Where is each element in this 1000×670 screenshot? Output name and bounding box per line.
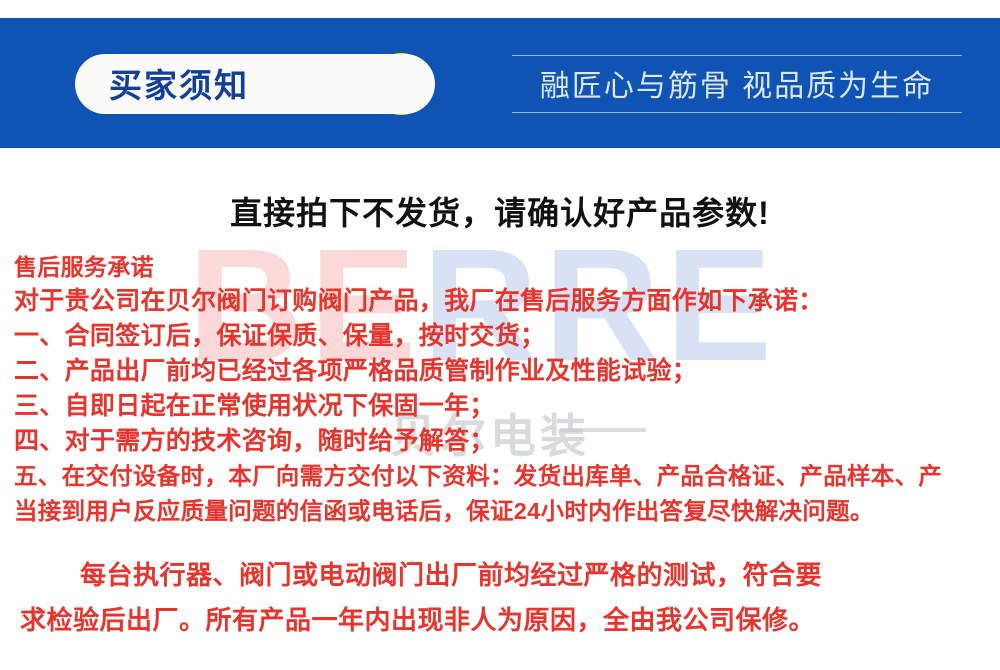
- banner-title-pill: 买家须知: [75, 54, 435, 114]
- promise-section-title: 售后服务承诺: [14, 251, 1000, 284]
- buyer-notice-page: 买家须知 融匠心与筋骨 视品质为生命 BERRE 贝尔电装 直接拍下不发货，请确…: [0, 0, 1000, 670]
- warranty-line-1: 每台执行器、阀门或电动阀门出厂前均经过严格的测试，符合要: [0, 553, 1000, 598]
- promise-item-1: 一、合同签订后，保证保质、保量，按时交货；: [14, 319, 1000, 354]
- warranty-closing-block: 每台执行器、阀门或电动阀门出厂前均经过严格的测试，符合要 求检验后出厂。所有产品…: [0, 553, 1000, 643]
- banner-slogan-text: 融匠心与筋骨 视品质为生命: [512, 61, 962, 105]
- banner-slogan-block: 融匠心与筋骨 视品质为生命: [512, 55, 962, 113]
- warranty-line-2: 求检验后出厂。所有产品一年内出现非人为原因，全由我公司保修。: [0, 598, 1000, 643]
- notice-content: 直接拍下不发货，请确认好产品参数! 售后服务承诺 对于贵公司在贝尔阀门订购阀门产…: [0, 148, 1000, 670]
- promise-item-5: 五、在交付设备时，本厂向需方交付以下资料：发货出库单、产品合格证、产品样本、产: [14, 459, 1000, 494]
- promise-item-3: 三、自即日起在正常使用状况下保固一年；: [14, 389, 1000, 424]
- after-sales-promise-block: 售后服务承诺 对于贵公司在贝尔阀门订购阀门产品，我厂在售后服务方面作如下承诺： …: [14, 251, 1000, 529]
- slogan-top-rule: [512, 55, 962, 56]
- promise-item-2: 二、产品出厂前均已经过各项严格品质管制作业及性能试验；: [14, 354, 1000, 389]
- promise-note: 当接到用户反应质量问题的信函或电话后，保证24小时内作出答复尽快解决问题。: [14, 494, 1000, 529]
- banner-title-label: 买家须知: [109, 59, 249, 107]
- promise-item-4: 四、对于需方的技术咨询，随时给予解答；: [14, 424, 1000, 459]
- header-banner: 买家须知 融匠心与筋骨 视品质为生命: [0, 18, 1000, 148]
- slogan-bottom-rule: [512, 112, 962, 113]
- page-title: 直接拍下不发货，请确认好产品参数!: [0, 188, 1000, 234]
- promise-intro: 对于贵公司在贝尔阀门订购阀门产品，我厂在售后服务方面作如下承诺：: [14, 284, 1000, 319]
